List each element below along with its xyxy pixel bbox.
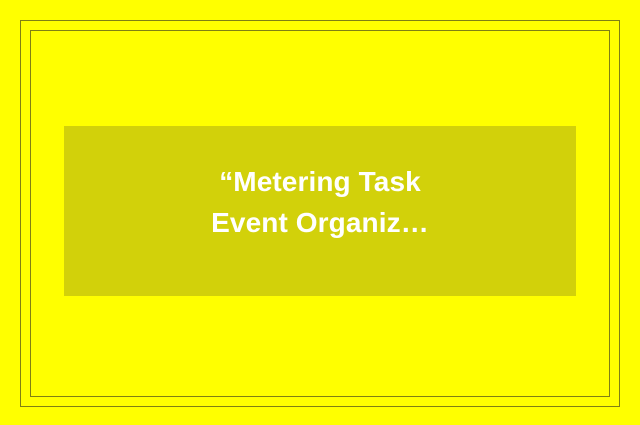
poster-title: “Metering Task Event Organiz… [211, 162, 429, 243]
title-panel: “Metering Task Event Organiz… [64, 126, 576, 296]
poster-canvas: “Metering Task Event Organiz… [0, 0, 640, 425]
